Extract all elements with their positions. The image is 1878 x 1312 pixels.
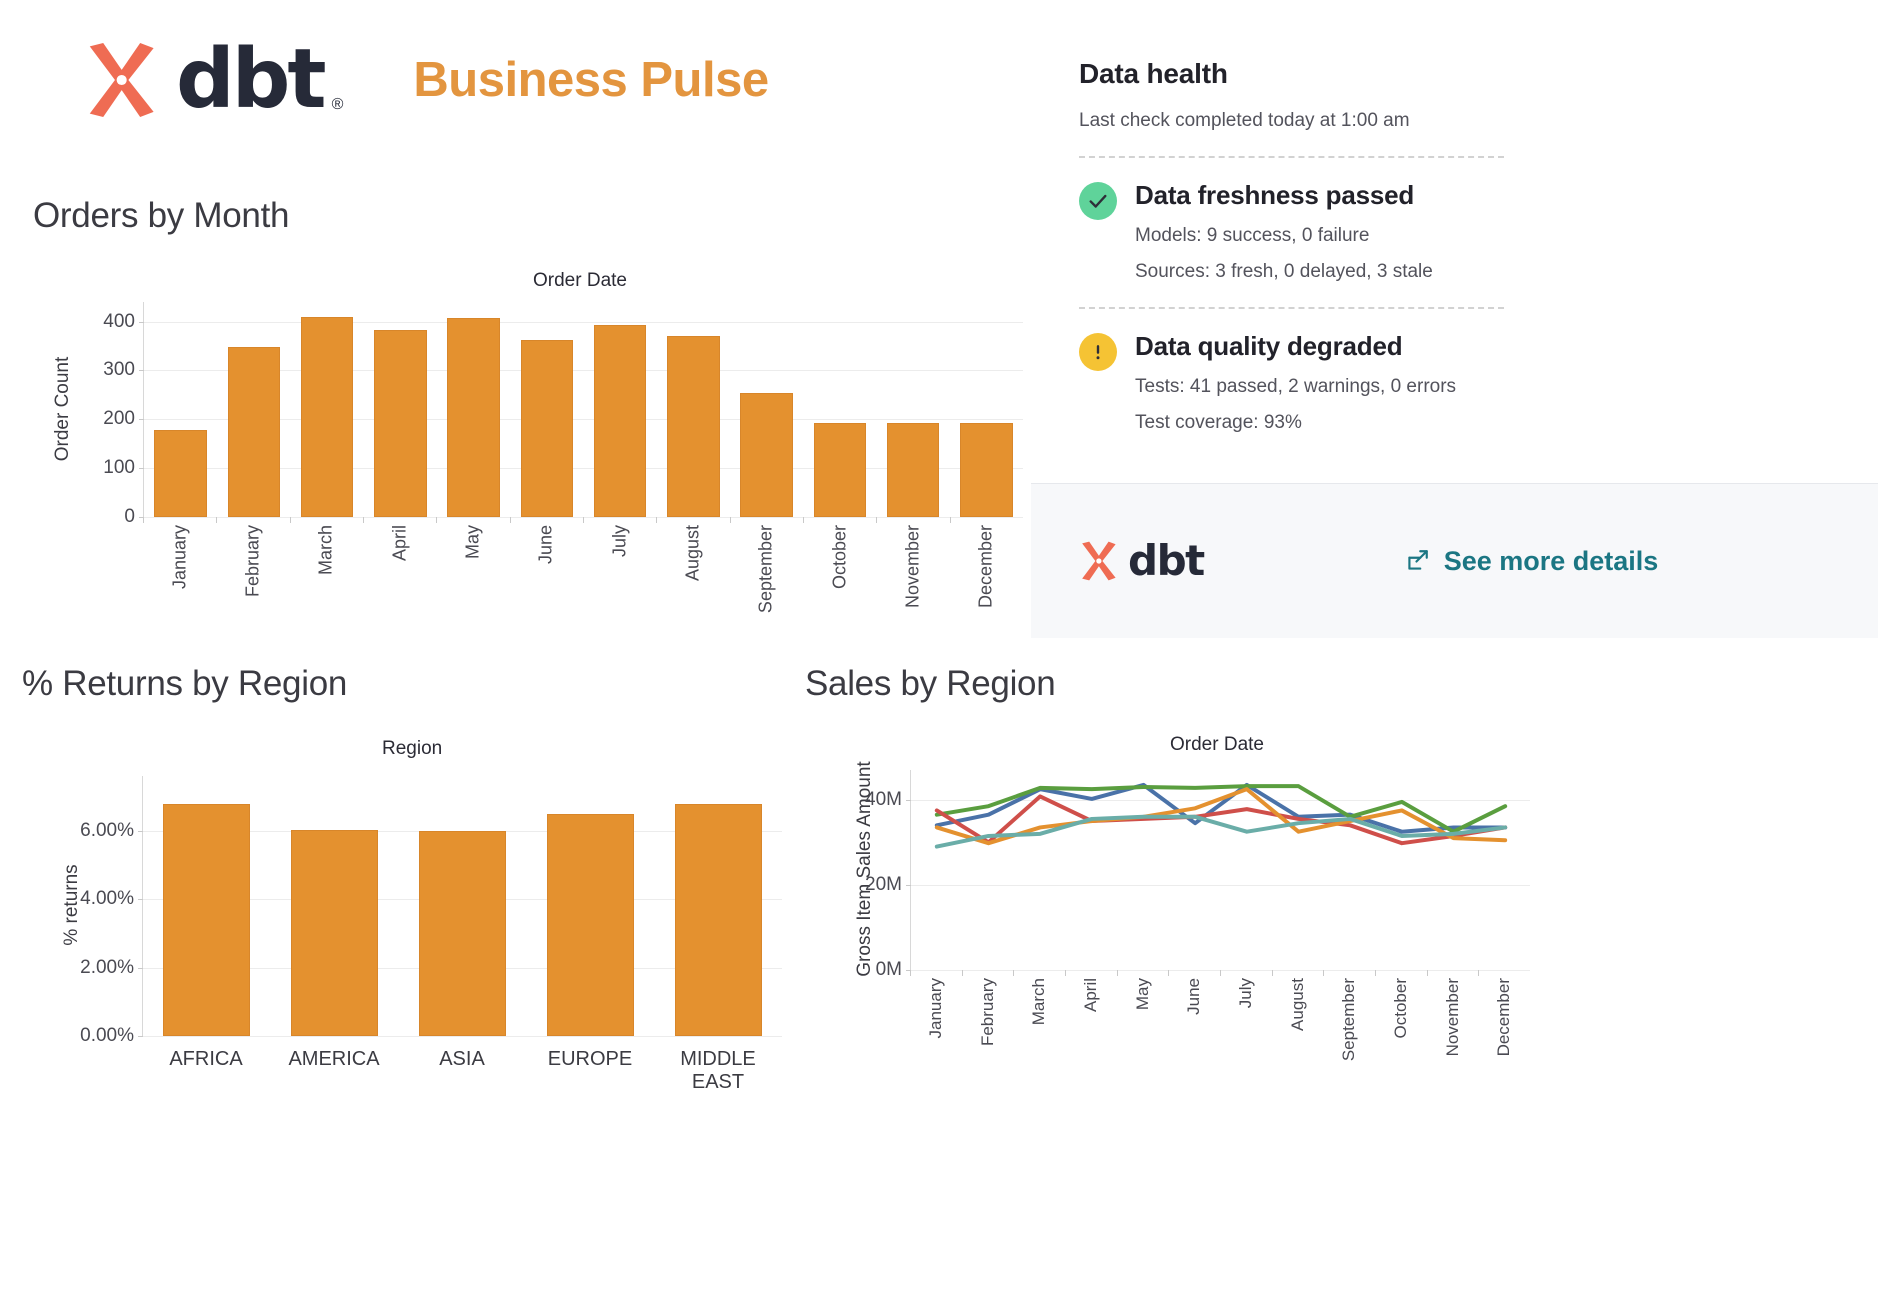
y-tick-label: 0.00% bbox=[80, 1025, 134, 1047]
x-tick-mark bbox=[962, 970, 963, 976]
orders-section-title: Orders by Month bbox=[33, 196, 1023, 236]
data-health-panel: Data health Last check completed today a… bbox=[1079, 58, 1519, 434]
external-link-icon bbox=[1404, 548, 1430, 574]
x-tick-mark bbox=[1065, 970, 1066, 976]
y-tick-label: 200 bbox=[103, 408, 135, 430]
x-axis-labels: JanuaryFebruaryMarchAprilMayJuneJulyAugu… bbox=[143, 517, 1023, 627]
x-tick-label-august: August bbox=[1288, 978, 1308, 1031]
orders-by-month-chart: Order Date Order Count 0100200300400 Jan… bbox=[33, 262, 1023, 662]
orders-plot-area: 0100200300400 bbox=[143, 302, 1023, 517]
y-tick-label: 4.00% bbox=[80, 888, 134, 910]
x-tick-label-september: September bbox=[756, 525, 777, 613]
x-tick-label-america: AMERICA bbox=[270, 1036, 398, 1094]
x-label-slot: November bbox=[1427, 970, 1479, 1080]
y-tick-label: 300 bbox=[103, 359, 135, 381]
x-tick-label-august: August bbox=[682, 525, 703, 581]
bar-series bbox=[144, 302, 1023, 517]
x-label-slot: May bbox=[436, 517, 509, 627]
x-label-slot: April bbox=[363, 517, 436, 627]
y-tick-label: 6.00% bbox=[80, 820, 134, 842]
bar-slot bbox=[877, 302, 950, 517]
warning-circle-icon bbox=[1079, 333, 1117, 371]
x-label-slot: February bbox=[216, 517, 289, 627]
x-tick-label-february: February bbox=[978, 978, 998, 1046]
quality-coverage-line: Test coverage: 93% bbox=[1135, 412, 1456, 434]
x-tick-mark bbox=[803, 517, 804, 523]
x-label-slot: December bbox=[1478, 970, 1530, 1080]
x-tick-mark bbox=[1427, 970, 1428, 976]
bar-june[interactable] bbox=[521, 340, 574, 517]
data-health-item-freshness: Data freshness passed Models: 9 success,… bbox=[1079, 180, 1519, 283]
sales-line-series bbox=[911, 770, 1531, 970]
bar-asia[interactable] bbox=[419, 831, 506, 1036]
dbt-x-icon bbox=[78, 38, 162, 122]
sales-plot-area: 0M20M40M bbox=[910, 770, 1530, 970]
x-tick-label-march: March bbox=[1029, 978, 1049, 1025]
cta-dbt-wordmark: dbt bbox=[1128, 540, 1204, 582]
bar-slot bbox=[657, 302, 730, 517]
bar-middle-east[interactable] bbox=[675, 804, 762, 1036]
x-tick-label-may: May bbox=[1133, 978, 1153, 1010]
x-tick-mark bbox=[583, 517, 584, 523]
x-tick-mark bbox=[950, 517, 951, 523]
x-tick-label-december: December bbox=[976, 525, 997, 608]
x-label-slot: May bbox=[1117, 970, 1169, 1080]
x-tick-label-september: September bbox=[1339, 978, 1359, 1061]
x-tick-mark bbox=[730, 517, 731, 523]
check-circle-icon bbox=[1079, 182, 1117, 220]
orders-y-axis-title: Order Count bbox=[52, 319, 74, 499]
bar-january[interactable] bbox=[154, 430, 207, 517]
freshness-models-line: Models: 9 success, 0 failure bbox=[1135, 225, 1433, 247]
x-tick-label-october: October bbox=[1391, 978, 1411, 1038]
freshness-sources-line: Sources: 3 fresh, 0 delayed, 3 stale bbox=[1135, 261, 1433, 283]
bar-slot bbox=[437, 302, 510, 517]
x-tick-label-may: May bbox=[462, 525, 483, 559]
bar-slot bbox=[526, 776, 654, 1036]
x-label-slot: January bbox=[143, 517, 216, 627]
x-tick-label-europe: EUROPE bbox=[526, 1036, 654, 1094]
y-tick-label: 0 bbox=[124, 506, 135, 528]
bar-slot bbox=[584, 302, 657, 517]
x-tick-mark bbox=[1013, 970, 1014, 976]
data-health-last-check: Last check completed today at 1:00 am bbox=[1079, 110, 1519, 132]
sales-by-region-section: Sales by Region Order Date Gross Item Sa… bbox=[805, 664, 1875, 1088]
x-tick-label-april: April bbox=[1081, 978, 1101, 1012]
sales-section-title: Sales by Region bbox=[805, 664, 1875, 704]
returns-section-title: % Returns by Region bbox=[22, 664, 822, 704]
returns-chart-top-label: Region bbox=[382, 738, 442, 760]
dbt-trademark: ® bbox=[332, 96, 344, 114]
y-tick-label: 400 bbox=[103, 311, 135, 333]
x-axis-labels: AFRICAAMERICAASIAEUROPEMIDDLE EAST bbox=[142, 1036, 782, 1094]
x-label-slot: February bbox=[962, 970, 1014, 1080]
x-tick-label-july: July bbox=[1236, 978, 1256, 1008]
x-label-slot: December bbox=[950, 517, 1023, 627]
x-label-slot: July bbox=[583, 517, 656, 627]
x-label-slot: August bbox=[1272, 970, 1324, 1080]
y-tick-label: 20M bbox=[865, 874, 902, 896]
dbt-x-icon bbox=[1076, 539, 1120, 583]
bar-slot bbox=[803, 302, 876, 517]
x-tick-mark bbox=[876, 517, 877, 523]
x-tick-mark bbox=[1478, 970, 1479, 976]
x-label-slot: March bbox=[1013, 970, 1065, 1080]
x-tick-mark bbox=[1323, 970, 1324, 976]
x-tick-label-april: April bbox=[389, 525, 410, 561]
y-tick-label: 40M bbox=[865, 789, 902, 811]
x-label-slot: January bbox=[910, 970, 962, 1080]
divider bbox=[1079, 156, 1504, 158]
x-label-slot: April bbox=[1065, 970, 1117, 1080]
bar-slot bbox=[950, 302, 1023, 517]
bar-september[interactable] bbox=[740, 393, 793, 517]
data-health-title: Data health bbox=[1079, 58, 1519, 90]
x-tick-mark bbox=[1117, 970, 1118, 976]
x-label-slot: June bbox=[510, 517, 583, 627]
data-health-item-quality: Data quality degraded Tests: 41 passed, … bbox=[1079, 331, 1519, 434]
y-tick-label: 2.00% bbox=[80, 957, 134, 979]
see-more-details-link[interactable]: See more details bbox=[1404, 546, 1659, 577]
see-more-details-label: See more details bbox=[1444, 546, 1659, 577]
x-label-slot: August bbox=[656, 517, 729, 627]
cta-dbt-logo: dbt bbox=[1076, 539, 1204, 583]
bar-slot bbox=[143, 776, 271, 1036]
x-tick-label-december: December bbox=[1494, 978, 1514, 1056]
x-tick-mark bbox=[656, 517, 657, 523]
bar-july[interactable] bbox=[594, 325, 647, 517]
dbt-wordmark: dbt bbox=[176, 39, 324, 121]
x-tick-mark bbox=[1272, 970, 1273, 976]
bar-april[interactable] bbox=[374, 330, 427, 517]
bar-slot bbox=[217, 302, 290, 517]
orders-by-month-section: Orders by Month Order Date Order Count 0… bbox=[33, 196, 1023, 662]
x-tick-label-february: February bbox=[242, 525, 263, 597]
page-header: dbt ® Business Pulse bbox=[78, 38, 769, 122]
returns-by-region-section: % Returns by Region Region % returns 0.0… bbox=[22, 664, 822, 1073]
bar-slot bbox=[510, 302, 583, 517]
x-tick-label-march: March bbox=[316, 525, 337, 575]
quality-tests-line: Tests: 41 passed, 2 warnings, 0 errors bbox=[1135, 376, 1456, 398]
x-tick-label-january: January bbox=[169, 525, 190, 589]
bar-slot bbox=[364, 302, 437, 517]
x-tick-mark bbox=[910, 970, 911, 976]
bar-august[interactable] bbox=[667, 336, 720, 517]
y-tick-label: 100 bbox=[103, 457, 135, 479]
x-tick-label-asia: ASIA bbox=[398, 1036, 526, 1094]
bar-slot bbox=[271, 776, 399, 1036]
bar-slot bbox=[291, 302, 364, 517]
x-label-slot: June bbox=[1168, 970, 1220, 1080]
bar-europe[interactable] bbox=[547, 814, 634, 1036]
y-tick-label: 0M bbox=[876, 959, 902, 981]
bar-slot bbox=[144, 302, 217, 517]
page-title: Business Pulse bbox=[413, 52, 768, 108]
x-label-slot: September bbox=[730, 517, 803, 627]
x-label-slot: September bbox=[1323, 970, 1375, 1080]
x-label-slot: October bbox=[803, 517, 876, 627]
x-label-slot: March bbox=[290, 517, 363, 627]
bar-december[interactable] bbox=[960, 423, 1013, 517]
sales-chart-top-label: Order Date bbox=[1170, 734, 1264, 756]
orders-chart-top-label: Order Date bbox=[533, 270, 627, 292]
x-tick-label-january: January bbox=[926, 978, 946, 1038]
bar-africa[interactable] bbox=[163, 804, 250, 1036]
x-tick-mark bbox=[290, 517, 291, 523]
x-tick-label-africa: AFRICA bbox=[142, 1036, 270, 1094]
bar-february[interactable] bbox=[228, 347, 281, 517]
x-label-slot: July bbox=[1220, 970, 1272, 1080]
dbt-logo: dbt ® bbox=[78, 38, 343, 122]
bar-slot bbox=[654, 776, 782, 1036]
bar-november[interactable] bbox=[887, 423, 940, 517]
bar-may[interactable] bbox=[447, 318, 500, 517]
bar-slot bbox=[399, 776, 527, 1036]
x-tick-mark bbox=[143, 517, 144, 523]
x-tick-label-middle-east: MIDDLE EAST bbox=[654, 1036, 782, 1094]
x-tick-label-november: November bbox=[902, 525, 923, 608]
x-tick-label-june: June bbox=[1184, 978, 1204, 1015]
x-tick-mark bbox=[1168, 970, 1169, 976]
x-axis-labels: JanuaryFebruaryMarchAprilMayJuneJulyAugu… bbox=[910, 970, 1530, 1080]
returns-plot-area: 0.00%2.00%4.00%6.00% bbox=[142, 776, 782, 1036]
returns-by-region-chart: Region % returns 0.00%2.00%4.00%6.00% AF… bbox=[22, 728, 812, 1073]
sales-by-region-chart: Order Date Gross Item Sales Amount 0M20M… bbox=[805, 728, 1860, 1088]
x-tick-mark bbox=[1375, 970, 1376, 976]
x-label-slot: October bbox=[1375, 970, 1427, 1080]
x-tick-mark bbox=[436, 517, 437, 523]
x-tick-mark bbox=[216, 517, 217, 523]
x-label-slot: November bbox=[876, 517, 949, 627]
bar-slot bbox=[730, 302, 803, 517]
bar-series bbox=[143, 776, 782, 1036]
bar-america[interactable] bbox=[291, 830, 378, 1036]
x-tick-label-july: July bbox=[609, 525, 630, 557]
x-tick-mark bbox=[363, 517, 364, 523]
divider bbox=[1079, 307, 1504, 309]
x-tick-mark bbox=[1220, 970, 1221, 976]
x-tick-mark bbox=[510, 517, 511, 523]
x-tick-label-november: November bbox=[1443, 978, 1463, 1056]
bar-october[interactable] bbox=[814, 423, 867, 517]
x-tick-label-june: June bbox=[536, 525, 557, 564]
see-more-details-panel: dbt See more details bbox=[1031, 483, 1878, 638]
bar-march[interactable] bbox=[301, 317, 354, 517]
freshness-heading: Data freshness passed bbox=[1135, 180, 1433, 211]
quality-heading: Data quality degraded bbox=[1135, 331, 1456, 362]
x-tick-label-october: October bbox=[829, 525, 850, 589]
sales-y-axis-title: Gross Item Sales Amount bbox=[854, 739, 876, 999]
